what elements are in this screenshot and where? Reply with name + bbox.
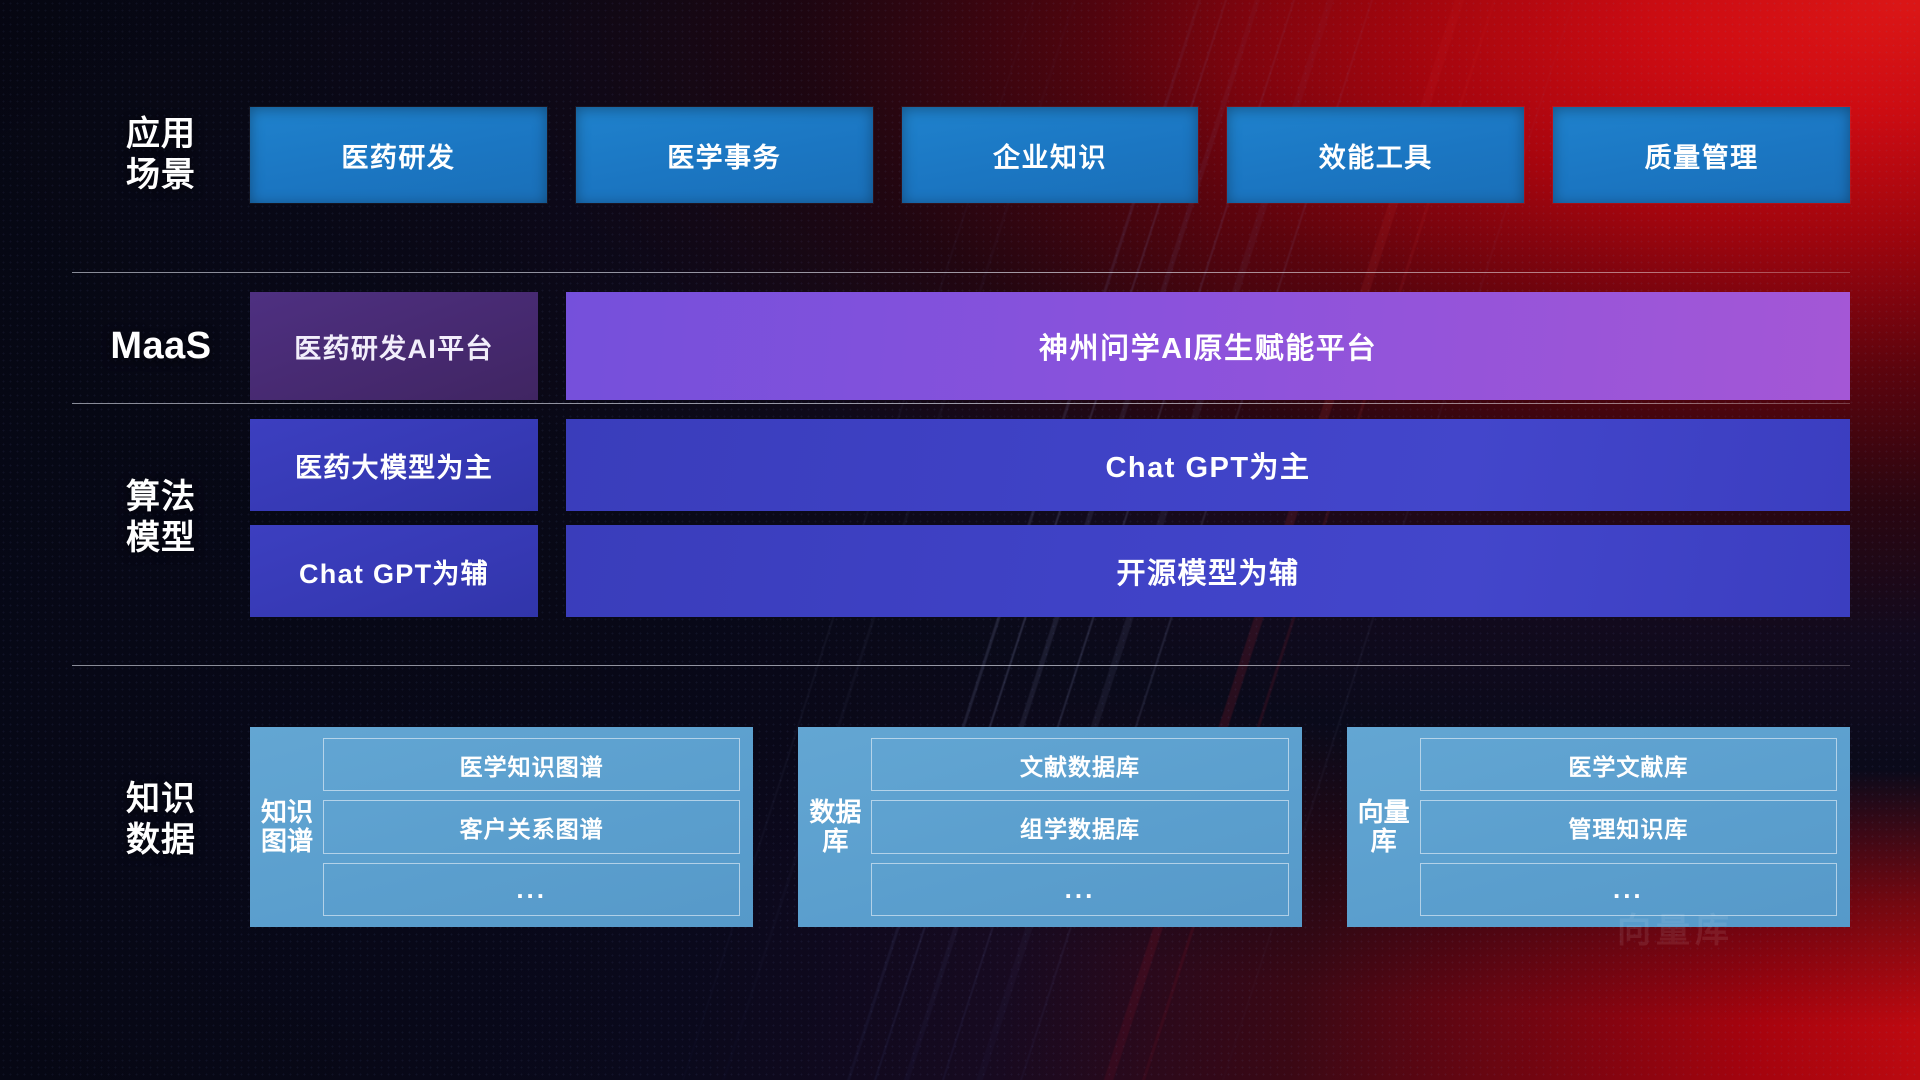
maas-card-group: 医药研发AI平台 神州问学AI原生赋能平台: [250, 292, 1850, 400]
knowledge-item-more[interactable]: ...: [1420, 863, 1837, 916]
knowledge-item-list: 文献数据库 组学数据库 ...: [871, 738, 1288, 916]
algorithm-row-secondary: Chat GPT为辅 开源模型为辅: [250, 525, 1850, 617]
algorithm-card-pharma-primary[interactable]: 医药大模型为主: [250, 419, 538, 511]
application-card[interactable]: 效能工具: [1227, 107, 1524, 203]
algorithm-card-group: 医药大模型为主 Chat GPT为主 Chat GPT为辅 开源模型为辅: [250, 419, 1850, 617]
application-card[interactable]: 企业知识: [902, 107, 1199, 203]
layer-row-applications: 应用 场景 医药研发 医学事务 企业知识 效能工具 质量管理: [72, 107, 1850, 203]
knowledge-item-list: 医学文献库 管理知识库 ...: [1420, 738, 1837, 916]
layer-label-algorithms: 算法 模型: [72, 477, 250, 560]
layer-row-algorithms: 算法 模型 医药大模型为主 Chat GPT为主 Chat GPT为辅 开源模型…: [72, 419, 1850, 617]
knowledge-panel-group: 知识图谱 医学知识图谱 客户关系图谱 ... 数据库 文献数据库 组学数据库 .…: [250, 727, 1850, 927]
algorithm-card-chatgpt-primary[interactable]: Chat GPT为主: [566, 419, 1850, 511]
maas-card-shenzhou-platform[interactable]: 神州问学AI原生赋能平台: [566, 292, 1850, 400]
knowledge-panel-title: 数据库: [809, 738, 861, 916]
knowledge-item[interactable]: 医学文献库: [1420, 738, 1837, 791]
layer-label-knowledge: 知识 数据: [72, 727, 250, 862]
application-card-group: 医药研发 医学事务 企业知识 效能工具 质量管理: [250, 107, 1850, 203]
application-card[interactable]: 医学事务: [576, 107, 873, 203]
layer-label-applications: 应用 场景: [72, 114, 250, 197]
knowledge-panel-title: 知识图谱: [261, 738, 313, 916]
diagram-content: 应用 场景 医药研发 医学事务 企业知识 效能工具 质量管理 MaaS 医药研发…: [0, 0, 1920, 1080]
knowledge-item-list: 医学知识图谱 客户关系图谱 ...: [323, 738, 740, 916]
divider-applications-maas: [72, 272, 1850, 273]
layer-label-maas: MaaS: [72, 323, 250, 369]
application-card[interactable]: 医药研发: [250, 107, 547, 203]
knowledge-item[interactable]: 管理知识库: [1420, 800, 1837, 853]
divider-algorithms-knowledge: [72, 665, 1850, 666]
knowledge-panel-vector[interactable]: 向量库 医学文献库 管理知识库 ...: [1347, 727, 1850, 927]
knowledge-panel-graph[interactable]: 知识图谱 医学知识图谱 客户关系图谱 ...: [250, 727, 753, 927]
application-card[interactable]: 质量管理: [1553, 107, 1850, 203]
knowledge-item[interactable]: 医学知识图谱: [323, 738, 740, 791]
layer-row-maas: MaaS 医药研发AI平台 神州问学AI原生赋能平台: [72, 292, 1850, 400]
algorithm-card-chatgpt-secondary[interactable]: Chat GPT为辅: [250, 525, 538, 617]
layer-row-knowledge: 知识 数据 知识图谱 医学知识图谱 客户关系图谱 ... 数据库 文献数据库 组…: [72, 727, 1850, 927]
slide-canvas: 应用 场景 医药研发 医学事务 企业知识 效能工具 质量管理 MaaS 医药研发…: [0, 0, 1920, 1080]
divider-maas-algorithms: [72, 403, 1850, 404]
knowledge-item-more[interactable]: ...: [871, 863, 1288, 916]
knowledge-item-more[interactable]: ...: [323, 863, 740, 916]
knowledge-item[interactable]: 组学数据库: [871, 800, 1288, 853]
knowledge-panel-title: 向量库: [1358, 738, 1410, 916]
algorithm-row-primary: 医药大模型为主 Chat GPT为主: [250, 419, 1850, 511]
algorithm-card-opensource-secondary[interactable]: 开源模型为辅: [566, 525, 1850, 617]
maas-card-pharma-platform[interactable]: 医药研发AI平台: [250, 292, 538, 400]
knowledge-panel-database[interactable]: 数据库 文献数据库 组学数据库 ...: [798, 727, 1301, 927]
knowledge-item[interactable]: 客户关系图谱: [323, 800, 740, 853]
knowledge-item[interactable]: 文献数据库: [871, 738, 1288, 791]
